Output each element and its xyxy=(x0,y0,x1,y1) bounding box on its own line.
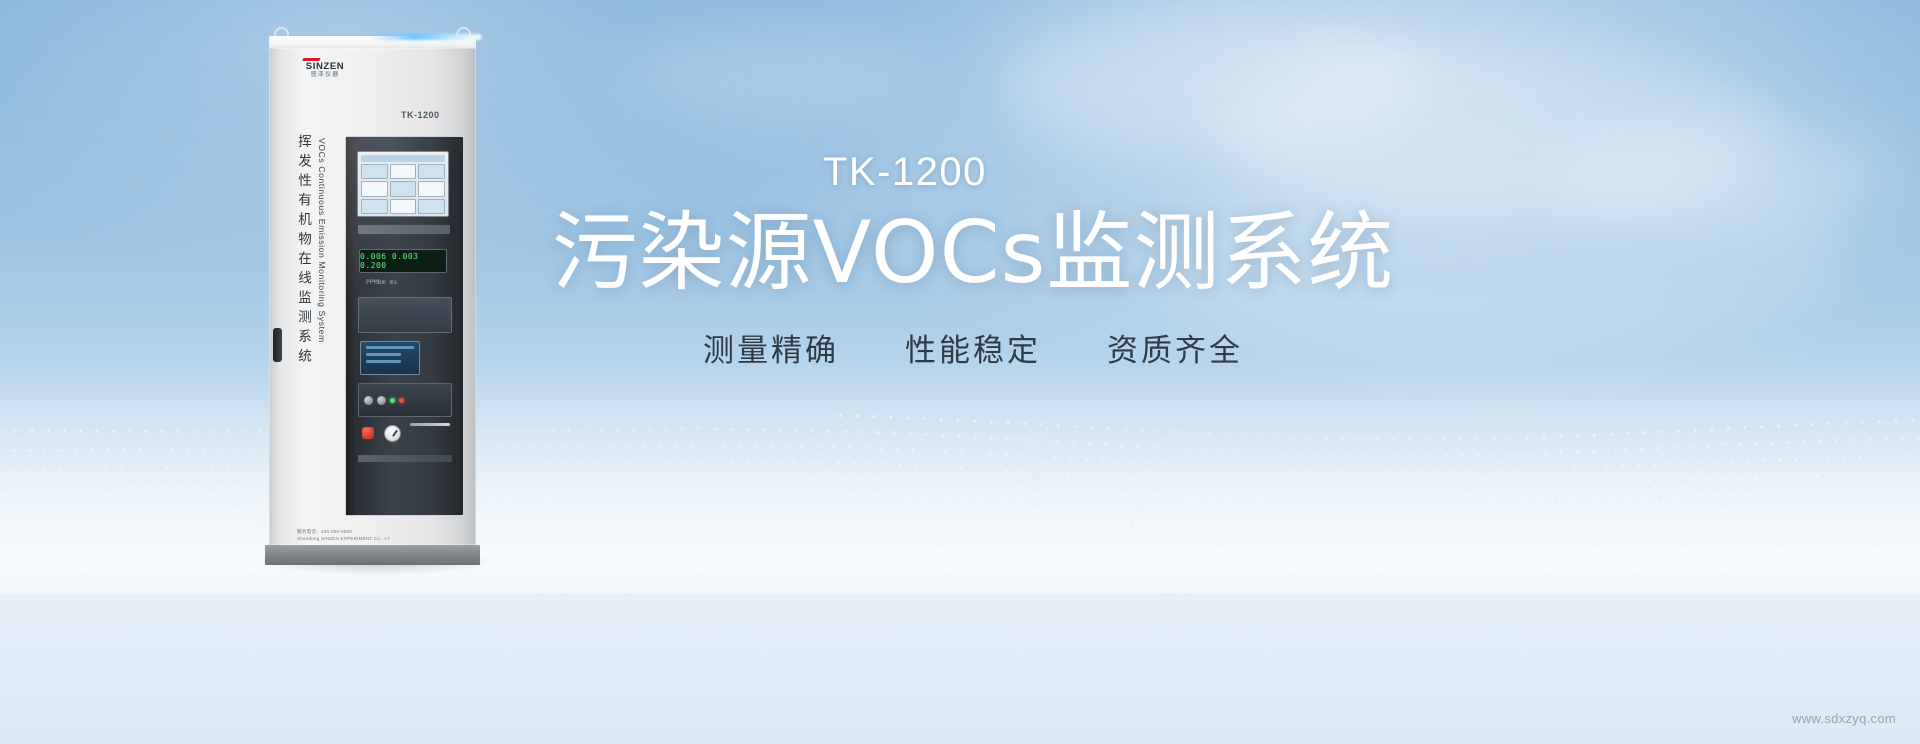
cabinet-body: SINZEN 盛泽仪器 TK-1200 挥发性有机物在线监测系统 VOCs Co… xyxy=(269,48,476,545)
cabinet-vertical-label-en: VOCs Continuous Emission Monitoring Syst… xyxy=(317,138,327,343)
controller-lcd xyxy=(360,341,420,375)
hmi-tile xyxy=(361,199,388,214)
product-cabinet-image: SINZEN 盛泽仪器 TK-1200 挥发性有机物在线监测系统 VOCs Co… xyxy=(265,24,490,569)
control-knob xyxy=(377,396,386,405)
emergency-stop-button xyxy=(362,427,374,439)
lcd-line xyxy=(366,360,401,363)
cabinet-base-plinth xyxy=(265,545,480,565)
product-banner: SINZEN 盛泽仪器 TK-1200 挥发性有机物在线监测系统 VOCs Co… xyxy=(0,0,1920,744)
hmi-tile xyxy=(418,164,445,179)
digital-readout-display: 0.006 0.003 0.200 xyxy=(359,249,447,273)
cabinet-company-line: Shandong SINZEN EXPERIMENT Co., LT xyxy=(297,535,457,542)
lower-module-strip xyxy=(358,455,452,462)
brand-accent-bar xyxy=(302,58,320,61)
site-watermark: www.sdxzyq.com xyxy=(1792,711,1896,726)
control-knob xyxy=(364,396,373,405)
readout-unit-label: PPMbm ms xyxy=(366,278,397,286)
product-model-heading: TK-1200 xyxy=(823,150,987,195)
feature-list: 测量精确 性能稳定 资质齐全 xyxy=(548,325,1398,370)
cabinet-service-phone: 服务电话：400-000-0000 xyxy=(297,528,457,535)
banner-headline: 污染源VOCs监测系统 xyxy=(548,208,1398,298)
feature-item: 资质齐全 xyxy=(1107,325,1243,370)
feature-item: 性能稳定 xyxy=(905,325,1041,370)
hmi-touch-screen xyxy=(357,151,449,217)
cabinet-footer-text: 服务电话：400-000-0000 Shandong SINZEN EXPERI… xyxy=(297,528,457,542)
hmi-tile-grid xyxy=(361,164,445,214)
hmi-tile xyxy=(361,164,388,179)
feature-item: 测量精确 xyxy=(703,325,839,370)
status-led-green xyxy=(390,398,395,403)
hmi-tile xyxy=(390,164,417,179)
hmi-tile xyxy=(390,181,417,196)
door-handle xyxy=(273,328,282,362)
hmi-title-bar xyxy=(361,155,445,162)
cabinet-vertical-label-cn: 挥发性有机物在线监测系统 xyxy=(293,134,313,368)
top-light-glow xyxy=(370,34,482,40)
hmi-tile xyxy=(361,181,388,196)
hero-copy-block: TK-1200 污染源VOCs监测系统 测量精确 性能稳定 资质齐全 xyxy=(548,0,1920,744)
analyzer-module xyxy=(358,297,452,333)
pressure-gauge xyxy=(384,425,401,442)
instrument-label-strip xyxy=(358,225,450,234)
control-panel xyxy=(358,383,452,417)
brand-name: SINZEN xyxy=(292,62,358,72)
hmi-tile xyxy=(390,199,417,214)
cabinet-brand-logo: SINZEN 盛泽仪器 xyxy=(292,58,358,78)
hmi-tile xyxy=(418,199,445,214)
status-led-red xyxy=(399,398,404,403)
cabinet-model-tag: TK-1200 xyxy=(401,110,440,120)
lcd-line xyxy=(366,346,414,349)
cabinet-glass-door: 0.006 0.003 0.200 PPMbm ms xyxy=(345,136,464,516)
hmi-tile xyxy=(418,181,445,196)
brand-name-cn: 盛泽仪器 xyxy=(292,72,358,78)
gas-tubing xyxy=(410,423,450,426)
lcd-line xyxy=(366,353,401,356)
